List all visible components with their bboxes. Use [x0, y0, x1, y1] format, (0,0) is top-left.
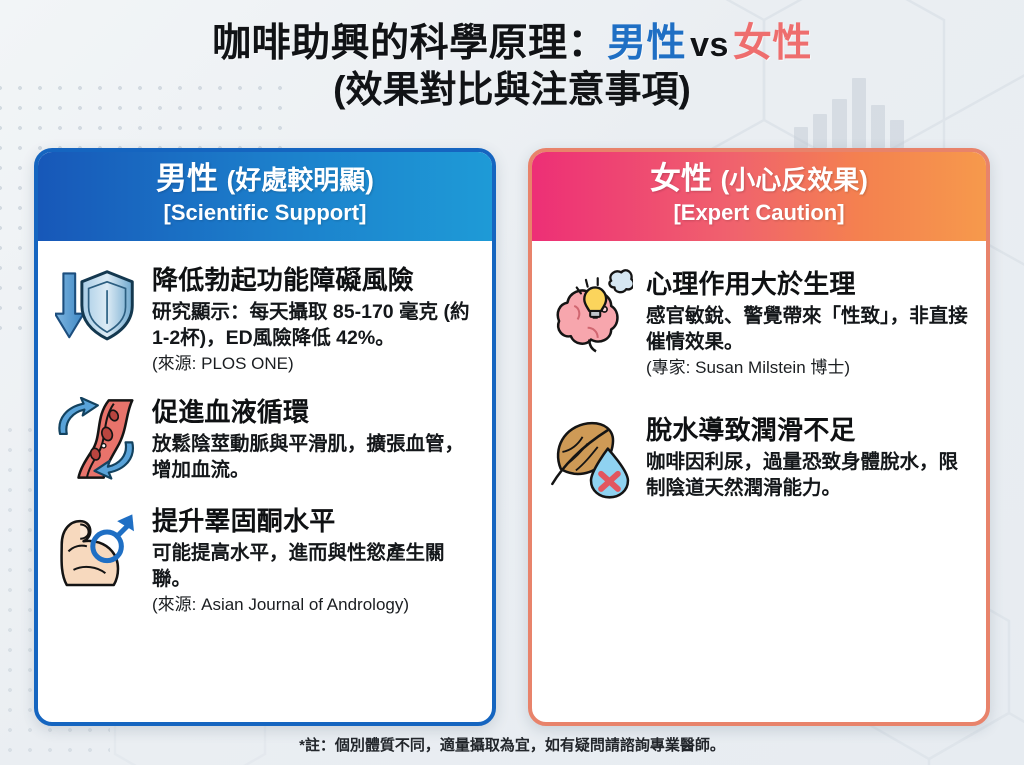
list-item: 脫水導致潤滑不足 咖啡因利尿，過量恐致身體脫水，限制陰道天然潤滑能力。 [548, 413, 968, 502]
title-line-1: 咖啡助興的科學原理：男性vs女性 [0, 22, 1024, 66]
down-arrow-shield-icon [54, 263, 140, 349]
male-card-title-paren: (好處較明顯) [227, 165, 374, 195]
list-item-text: 脫水導致潤滑不足 咖啡因利尿，過量恐致身體脫水，限制陰道天然潤滑能力。 [646, 413, 968, 502]
item-description: 可能提高水平，進而與性慾產生關聯。 [152, 541, 474, 593]
brain-lightbulb-icon [548, 267, 634, 353]
list-item: 降低勃起功能障礙風險 研究顯示：每天攝取 85-170 毫克 (約1-2杯)，E… [54, 263, 474, 375]
female-card-body: 心理作用大於生理 感官敏銳、警覺帶來「性致」，非直接催情效果。 (專家: Sus… [532, 241, 986, 722]
item-heading: 降低勃起功能障礙風險 [152, 265, 474, 296]
male-card-header: 男性 (好處較明顯) [Scientific Support] [34, 148, 496, 241]
item-source: (專家: Susan Milstein 博士) [646, 357, 968, 379]
female-card-title-main: 女性 [650, 161, 712, 196]
page-title: 咖啡助興的科學原理：男性vs女性 (效果對比與注意事項) [0, 22, 1024, 111]
list-item-text: 促進血液循環 放鬆陰莖動脈與平滑肌，擴張血管，增加血流。 [152, 395, 474, 484]
title-female-word: 女性 [733, 22, 812, 65]
female-card-subtitle: [Expert Caution] [538, 200, 980, 226]
list-item: 心理作用大於生理 感官敏銳、警覺帶來「性致」，非直接催情效果。 (專家: Sus… [548, 267, 968, 379]
female-card: 女性 (小心反效果) [Expert Caution] [528, 148, 990, 726]
item-heading: 心理作用大於生理 [646, 269, 968, 300]
item-description: 咖啡因利尿，過量恐致身體脫水，限制陰道天然潤滑能力。 [646, 450, 968, 502]
item-heading: 提升睪固酮水平 [152, 506, 474, 537]
comparison-cards: 男性 (好處較明顯) [Scientific Support] [34, 148, 990, 726]
male-card: 男性 (好處較明顯) [Scientific Support] [34, 148, 496, 726]
item-heading: 促進血液循環 [152, 397, 474, 428]
female-card-title: 女性 (小心反效果) [538, 161, 980, 198]
list-item-text: 提升睪固酮水平 可能提高水平，進而與性慾產生關聯。 (來源: Asian Jou… [152, 504, 474, 616]
list-item-text: 降低勃起功能障礙風險 研究顯示：每天攝取 85-170 毫克 (約1-2杯)，E… [152, 263, 474, 375]
male-card-body: 降低勃起功能障礙風險 研究顯示：每天攝取 85-170 毫克 (約1-2杯)，E… [38, 241, 492, 722]
item-description: 放鬆陰莖動脈與平滑肌，擴張血管，增加血流。 [152, 432, 474, 484]
blood-vessel-icon [54, 395, 140, 481]
title-prefix: 咖啡助興的科學原理： [212, 22, 607, 65]
item-heading: 脫水導致潤滑不足 [646, 415, 968, 446]
title-vs-word: vs [686, 26, 733, 64]
list-item: 促進血液循環 放鬆陰莖動脈與平滑肌，擴張血管，增加血流。 [54, 395, 474, 484]
item-description: 研究顯示：每天攝取 85-170 毫克 (約1-2杯)，ED風險降低 42%。 [152, 300, 474, 352]
item-source: (來源: Asian Journal of Andrology) [152, 594, 474, 616]
item-description: 感官敏銳、警覺帶來「性致」，非直接催情效果。 [646, 304, 968, 356]
item-source: (來源: PLOS ONE) [152, 353, 474, 375]
male-card-title-main: 男性 [156, 161, 218, 196]
female-card-title-paren: (小心反效果) [721, 165, 868, 195]
flexed-bicep-male-symbol-icon [54, 504, 140, 590]
leaf-water-drop-x-icon [548, 413, 634, 499]
title-line-2: (效果對比與注意事項) [0, 68, 1024, 112]
list-item: 提升睪固酮水平 可能提高水平，進而與性慾產生關聯。 (來源: Asian Jou… [54, 504, 474, 616]
footer-disclaimer: *註：個別體質不同，適量攝取為宜，如有疑問請諮詢專業醫師。 [0, 734, 1024, 755]
title-male-word: 男性 [607, 22, 686, 65]
female-card-header: 女性 (小心反效果) [Expert Caution] [528, 148, 990, 241]
male-card-subtitle: [Scientific Support] [44, 200, 486, 226]
list-item-text: 心理作用大於生理 感官敏銳、警覺帶來「性致」，非直接催情效果。 (專家: Sus… [646, 267, 968, 379]
male-card-title: 男性 (好處較明顯) [44, 161, 486, 198]
